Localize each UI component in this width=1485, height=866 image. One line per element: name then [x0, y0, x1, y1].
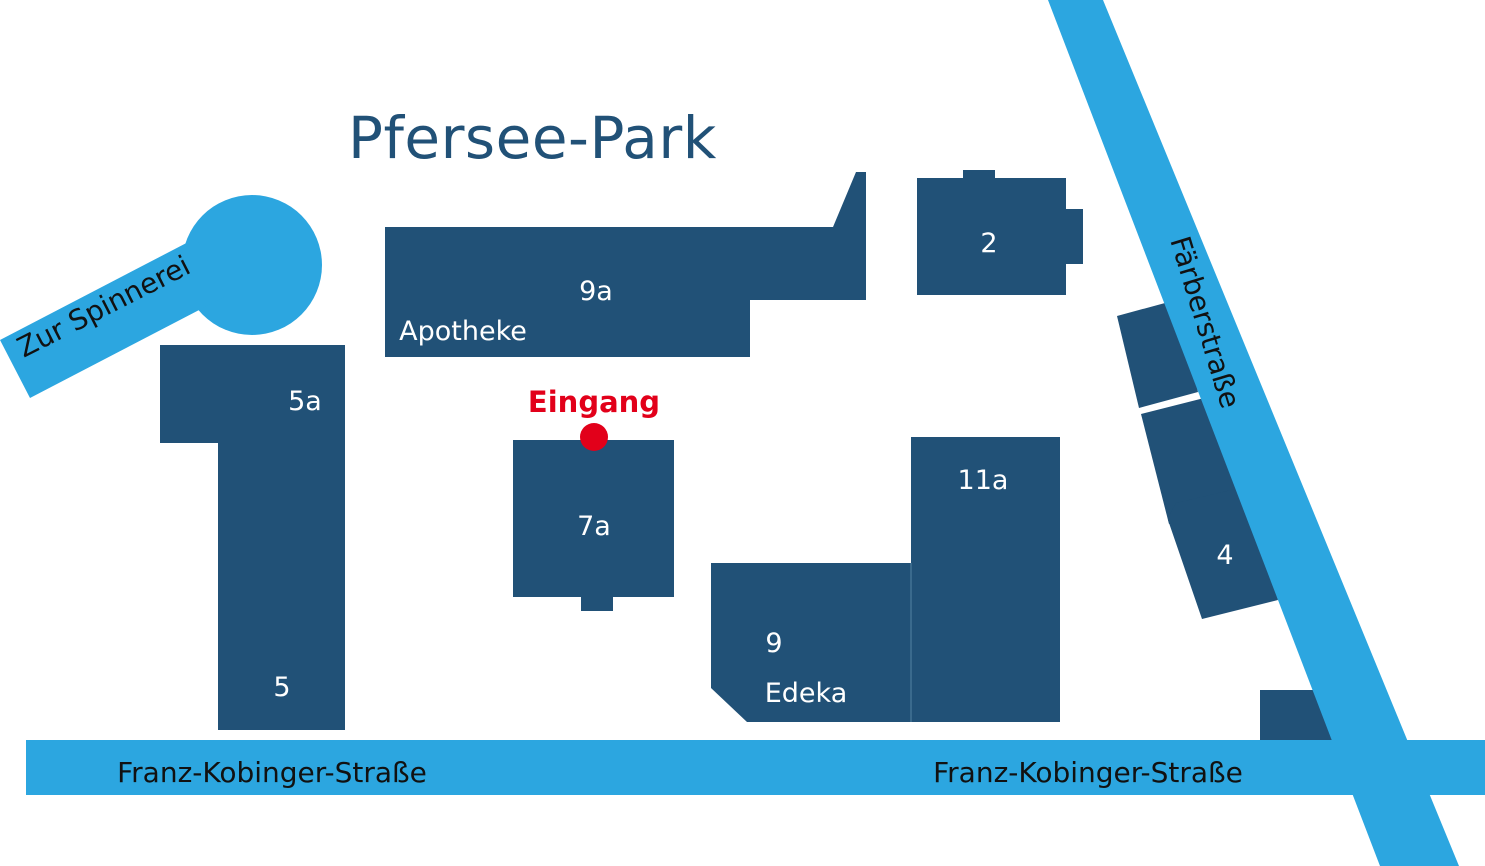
street-label-franz-kobinger-strasse-west: Franz-Kobinger-Straße [117, 756, 427, 789]
building-label-11a: 11a [958, 465, 1009, 496]
building-label-7a: 7a [577, 511, 611, 542]
building-label-edeka: Edeka [765, 678, 848, 709]
building-label-5: 5 [273, 672, 290, 703]
building-2[interactable] [917, 170, 1083, 295]
building-label-9: 9 [765, 628, 782, 659]
building-label-5a: 5a [288, 386, 322, 417]
entrance-label: Eingang [528, 385, 660, 419]
map-canvas: Pfersee-Park Zur Spinnerei Färberstraße … [0, 0, 1485, 866]
entrance-dot-icon[interactable] [580, 423, 608, 451]
building-label-2: 2 [980, 228, 997, 259]
street-faerberstrasse-band[interactable] [1048, 0, 1459, 866]
pfersee-park-site-map: Pfersee-Park Zur Spinnerei Färberstraße … [0, 0, 1485, 866]
street-label-franz-kobinger-strasse-ost: Franz-Kobinger-Straße [933, 756, 1243, 789]
building-label-4: 4 [1216, 540, 1233, 571]
building-label-apotheke: Apotheke [399, 316, 527, 347]
building-label-9a: 9a [579, 276, 613, 307]
page-title: Pfersee-Park [348, 104, 717, 172]
